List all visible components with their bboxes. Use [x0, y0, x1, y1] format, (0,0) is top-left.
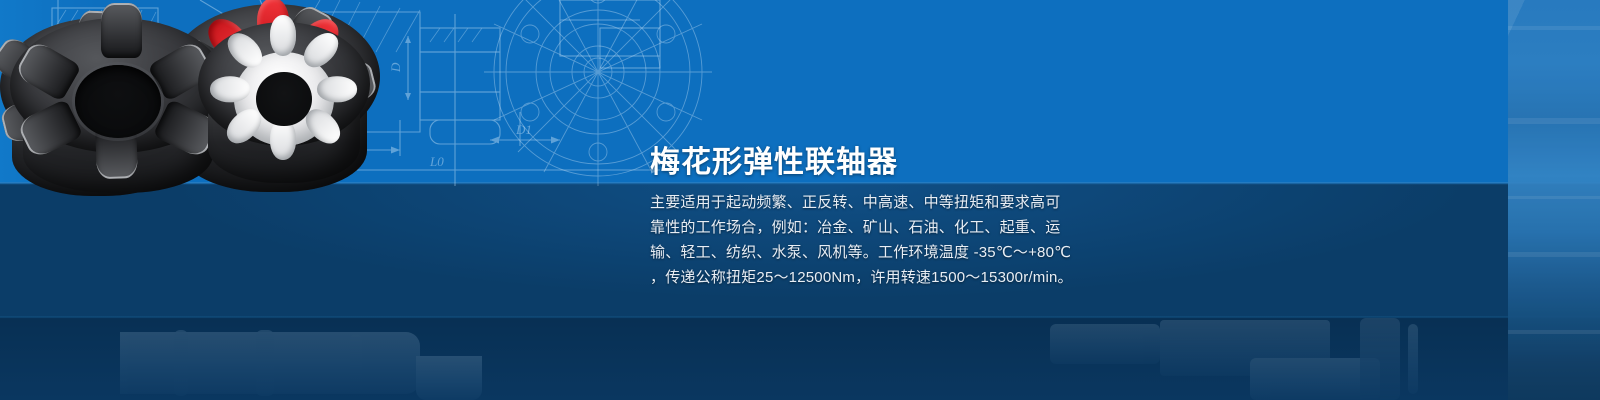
- spider-petal: [316, 76, 356, 102]
- product-description: 主要适用于起动频繁、正反转、中高速、中等扭矩和要求高可 靠性的工作场合，例如：冶…: [650, 190, 1050, 290]
- spider-petal: [270, 15, 296, 55]
- jaw-coupling-hub-black-right: [10, 18, 226, 200]
- machinery-ghost-right: [1010, 318, 1430, 400]
- machinery-ghost-left: [120, 322, 480, 400]
- hub-bore: [75, 65, 161, 138]
- description-line-4: ，传递公称扭矩25～12500Nm，许用转速1500～15300r/min。: [650, 265, 1050, 290]
- description-line-3: 输、轻工、纺织、水泵、风机等。工作环境温度 -35℃～+80℃: [650, 240, 1050, 265]
- description-line-1: 主要适用于起动频繁、正反转、中高速、中等扭矩和要求高可: [650, 190, 1050, 215]
- spider-petal: [210, 76, 250, 102]
- svg-text:D: D: [388, 62, 403, 73]
- hub-jaw: [101, 3, 142, 58]
- svg-text:L0: L0: [429, 154, 444, 169]
- page-title: 梅花形弹性联轴器: [650, 137, 898, 181]
- description-line-2: 靠性的工作场合，例如：冶金、矿山、石油、化工、起重、运: [650, 215, 1050, 240]
- machinery-photo-right: [1508, 0, 1600, 400]
- product-banner: d D L L L0 D D1: [0, 0, 1600, 400]
- spider-bore: [256, 72, 311, 126]
- jaw-coupling-white-spider: [198, 22, 370, 190]
